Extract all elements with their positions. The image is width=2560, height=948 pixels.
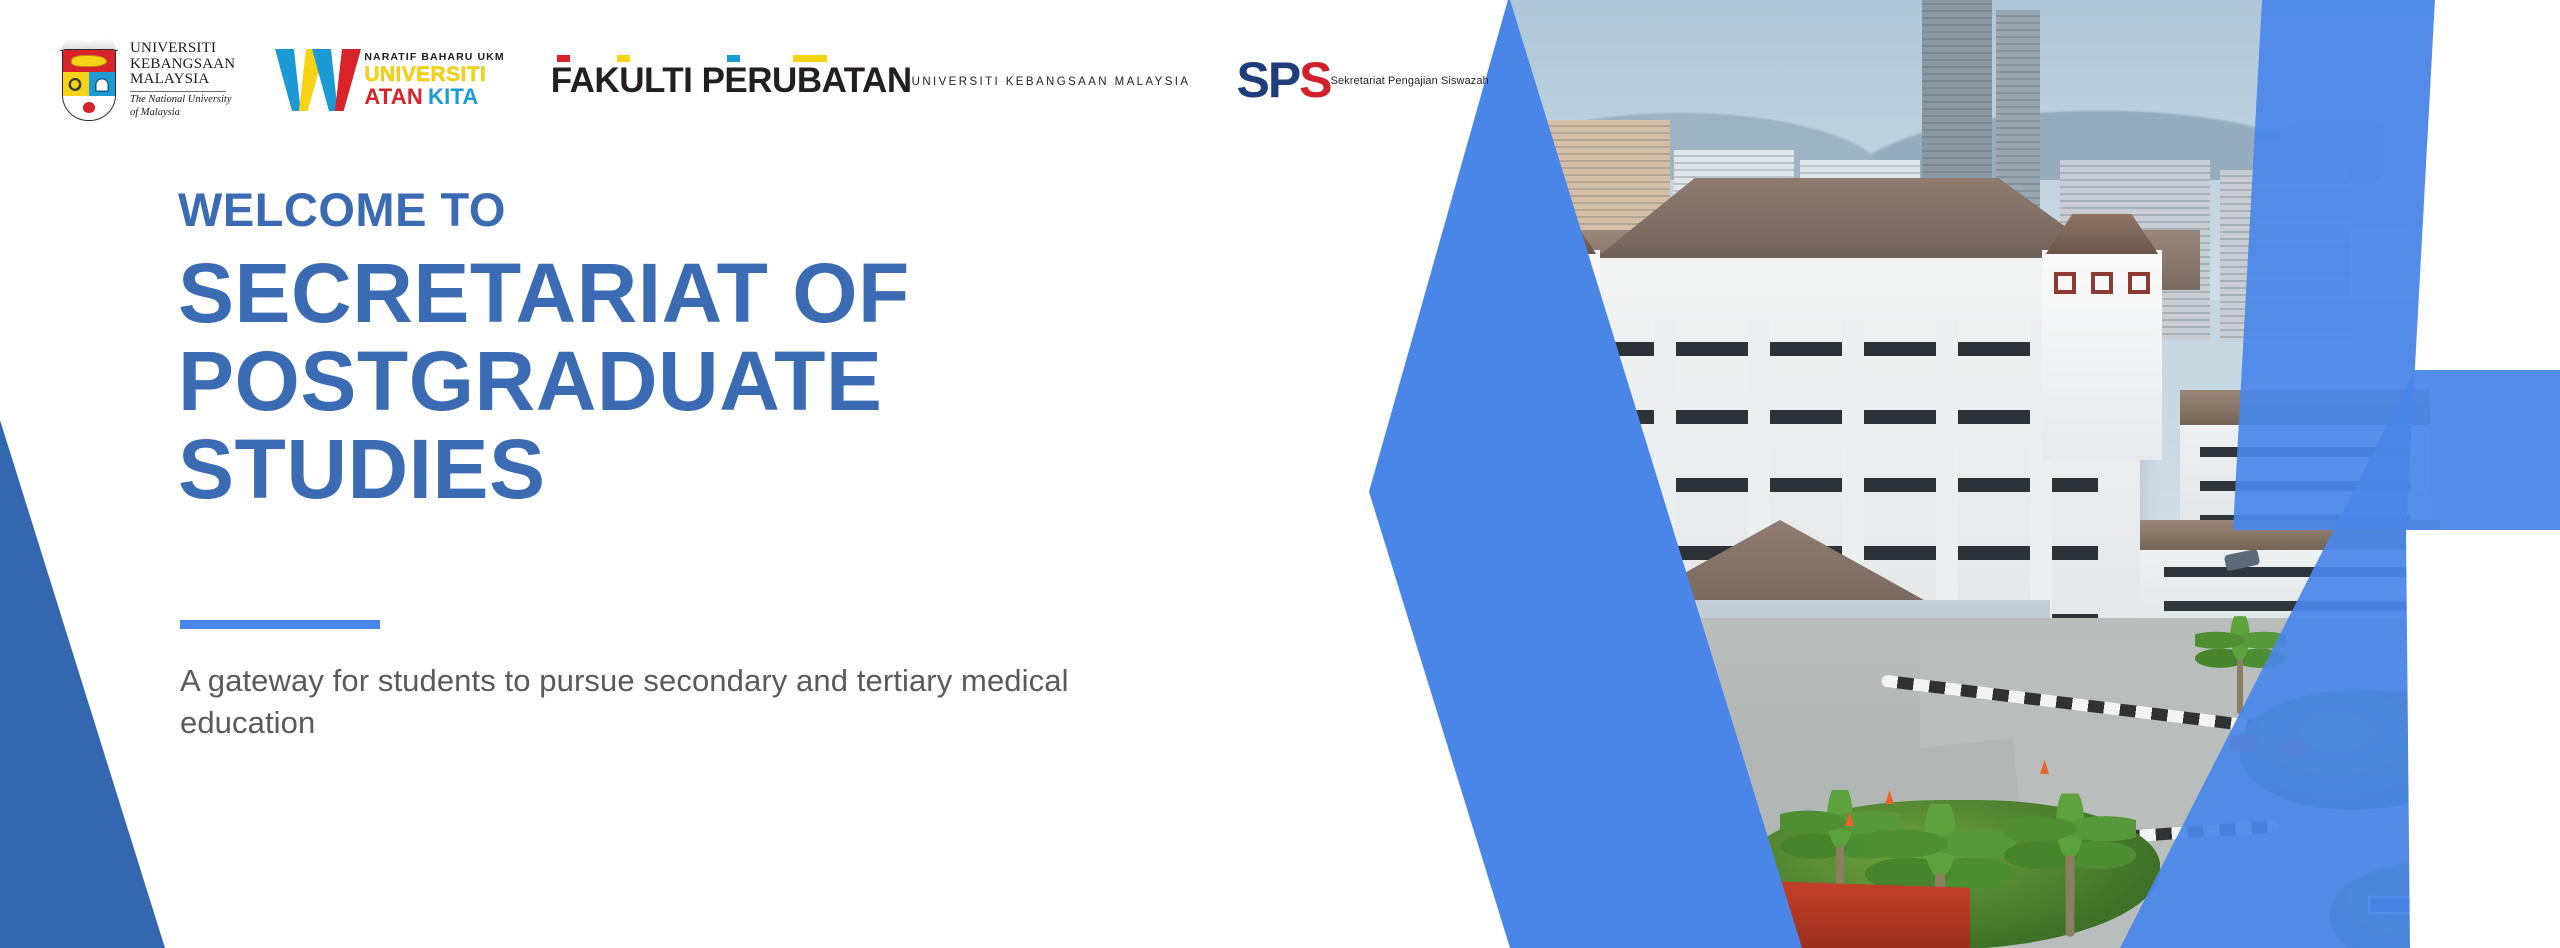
ukm-line-2: KEBANGSAAN (130, 57, 235, 73)
tower-window (2091, 272, 2113, 294)
tower-window (2128, 272, 2150, 294)
wk-universiti: UNIVERSITI (364, 64, 504, 85)
ukm-wordmark: UNIVERSITI KEBANGSAAN MALAYSIA The Natio… (130, 41, 235, 119)
ukm-tagline-2: of Malaysia (130, 107, 235, 120)
ukm-crest-icon (58, 37, 120, 123)
logo-row: UNIVERSITI KEBANGSAAN MALAYSIA The Natio… (58, 26, 1489, 134)
banner-subtitle: A gateway for students to pursue seconda… (180, 660, 1100, 744)
tower-window (2054, 272, 2076, 294)
double-w-icon (281, 49, 359, 111)
logo-ukm[interactable]: UNIVERSITI KEBANGSAAN MALAYSIA The Natio… (58, 37, 235, 123)
welcome-label: WELCOME TO (178, 186, 1238, 233)
sps-monogram: SPS (1236, 55, 1330, 105)
wk-watan: ATAN (364, 84, 423, 109)
palm-tree (2004, 794, 2136, 937)
wk-tagline: NARATIF BAHARU UKM (364, 52, 504, 63)
hibiscus-icon (83, 102, 95, 113)
headline-block: WELCOME TO SECRETARIAT OF POSTGRADUATE S… (178, 186, 1238, 514)
sps-letter-p: P (1268, 52, 1299, 108)
stair-tower-right (2042, 250, 2162, 460)
shield-body (62, 49, 116, 121)
sps-subtitle: Sekretariat Pengajian Siswazah (1331, 76, 1489, 87)
ukm-line-1: UNIVERSITI (130, 41, 235, 57)
accent-rule (180, 620, 380, 629)
ukm-line-3: MALAYSIA (130, 72, 235, 88)
campus-photo-panel: FAKULTI PERUBATAN UNIVERSITI KEBANGSAAN … (1180, 0, 2560, 948)
wk-kita: KITA (428, 84, 479, 109)
sps-letter-s2: S (1299, 52, 1330, 108)
page-title: SECRETARIAT OF POSTGRADUATE STUDIES (178, 249, 1238, 514)
tiger-icon (71, 55, 106, 68)
divider (130, 91, 226, 92)
sps-letter-s1: S (1236, 52, 1267, 108)
wk-bottom-line: ATANKITA (364, 86, 504, 108)
ukm-tagline-1: The National University (130, 94, 235, 107)
logo-sps[interactable]: SPS Sekretariat Pengajian Siswazah (1236, 55, 1488, 105)
fp-wordmark: FAKULTI PERUBATAN (551, 63, 912, 98)
logo-watan-kita[interactable]: NARATIF BAHARU UKM UNIVERSITI ATANKITA (281, 49, 504, 111)
fp-accent-dots (551, 55, 912, 63)
fp-subtitle: UNIVERSITI KEBANGSAAN MALAYSIA (912, 77, 1191, 89)
hero-banner: FAKULTI PERUBATAN UNIVERSITI KEBANGSAAN … (0, 0, 2560, 948)
logo-fakulti-perubatan[interactable]: FAKULTI PERUBATAN UNIVERSITI KEBANGSAAN … (551, 63, 1191, 98)
keris-crown-icon (95, 78, 109, 92)
photo-clip: FAKULTI PERUBATAN UNIVERSITI KEBANGSAAN … (1180, 0, 2560, 948)
watan-kita-wordmark: NARATIF BAHARU UKM UNIVERSITI ATANKITA (364, 52, 504, 109)
